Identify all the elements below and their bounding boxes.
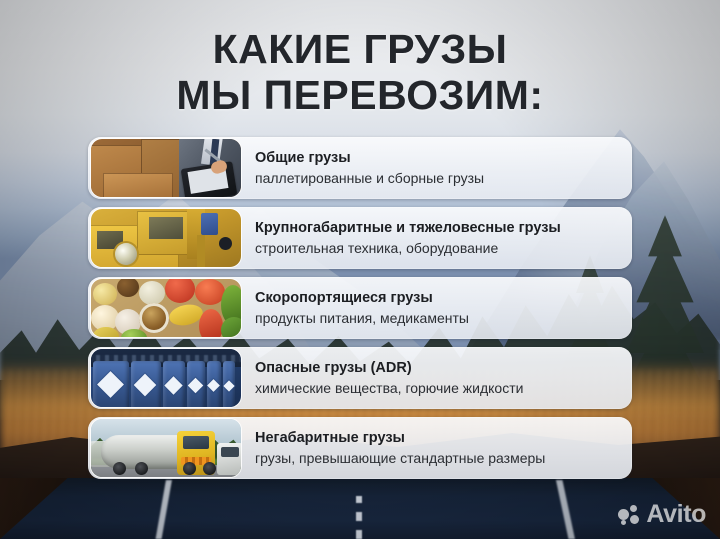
list-item-title: Негабаритные грузы	[255, 429, 632, 448]
list-item-text: Крупногабаритные и тяжеловесные грузы ст…	[241, 207, 632, 269]
cargo-type-list: Общие грузы паллетированные и сборные гр…	[88, 137, 632, 487]
page-title-line-2: МЫ ПЕРЕВОЗИМ:	[0, 72, 720, 118]
cargo-thumbnail-perishable	[91, 279, 241, 337]
list-item-subtitle: грузы, превышающие стандартные размеры	[255, 448, 632, 468]
cargo-thumbnail-oversize-heavy	[91, 209, 241, 267]
page-title: КАКИЕ ГРУЗЫ МЫ ПЕРЕВОЗИМ:	[0, 26, 720, 118]
list-item-title: Опасные грузы (ADR)	[255, 359, 632, 378]
poster: КАКИЕ ГРУЗЫ МЫ ПЕРЕВОЗИМ: Общие грузы па…	[0, 0, 720, 539]
list-item-title: Крупногабаритные и тяжеловесные грузы	[255, 219, 632, 238]
list-item-text: Негабаритные грузы грузы, превышающие ст…	[241, 417, 632, 479]
avito-wordmark: Avito	[646, 502, 706, 527]
list-item-subtitle: химические вещества, горючие жидкости	[255, 378, 632, 398]
cargo-thumbnail-outsized	[91, 419, 241, 477]
list-item[interactable]: Крупногабаритные и тяжеловесные грузы ст…	[88, 207, 632, 269]
list-item-subtitle: продукты питания, медикаменты	[255, 308, 632, 328]
list-item[interactable]: Негабаритные грузы грузы, превышающие ст…	[88, 417, 632, 479]
cargo-thumbnail-general	[91, 139, 241, 197]
page-title-line-1: КАКИЕ ГРУЗЫ	[0, 26, 720, 72]
list-item-title: Скоропортящиеся грузы	[255, 289, 632, 308]
list-item[interactable]: Общие грузы паллетированные и сборные гр…	[88, 137, 632, 199]
list-item-text: Опасные грузы (ADR) химические вещества,…	[241, 347, 632, 409]
cargo-thumbnail-adr-dangerous	[91, 349, 241, 407]
avito-watermark: Avito	[618, 502, 706, 527]
list-item-title: Общие грузы	[255, 149, 632, 168]
list-item-subtitle: строительная техника, оборудование	[255, 238, 632, 258]
list-item-subtitle: паллетированные и сборные грузы	[255, 168, 632, 188]
list-item[interactable]: Опасные грузы (ADR) химические вещества,…	[88, 347, 632, 409]
avito-dots-icon	[618, 505, 640, 525]
list-item-text: Общие грузы паллетированные и сборные гр…	[241, 137, 632, 199]
list-item-text: Скоропортящиеся грузы продукты питания, …	[241, 277, 632, 339]
list-item[interactable]: Скоропортящиеся грузы продукты питания, …	[88, 277, 632, 339]
